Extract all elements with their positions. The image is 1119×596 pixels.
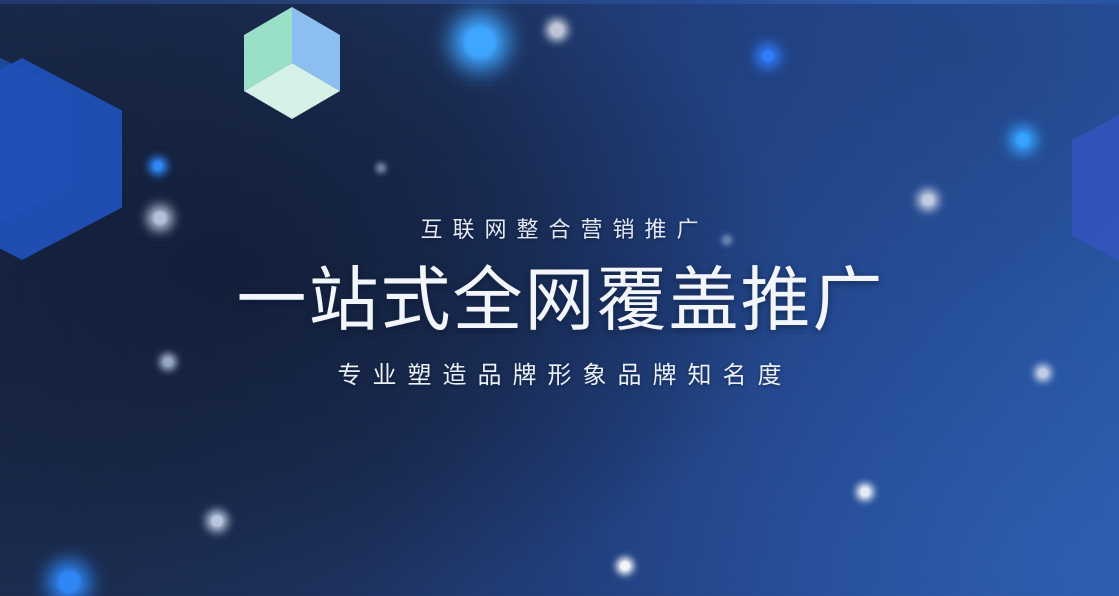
background-top-highlight [0,0,1119,4]
page-title: 一站式全网覆盖推广 [0,261,1119,339]
isometric-cube-logo [244,7,340,119]
glow-particle [550,23,564,37]
glow-particle [860,487,870,497]
eyebrow-text: 互联网整合营销推广 [0,214,1119,247]
tagline-text: 专业塑造品牌形象品牌知名度 [0,357,1119,393]
glow-particle [211,515,223,527]
headline-block: 互联网整合营销推广 一站式全网覆盖推广 专业塑造品牌形象品牌知名度 [0,214,1119,393]
glow-particle [620,561,630,571]
promo-banner: 互联网整合营销推广 一站式全网覆盖推广 专业塑造品牌形象品牌知名度 [0,0,1119,596]
glow-particle [922,194,934,206]
glow-particle [1016,133,1030,147]
glow-particle [762,50,774,62]
glow-particle [153,161,163,171]
glow-particle [378,165,384,171]
glow-particle [57,570,81,594]
glow-particle [463,25,497,59]
